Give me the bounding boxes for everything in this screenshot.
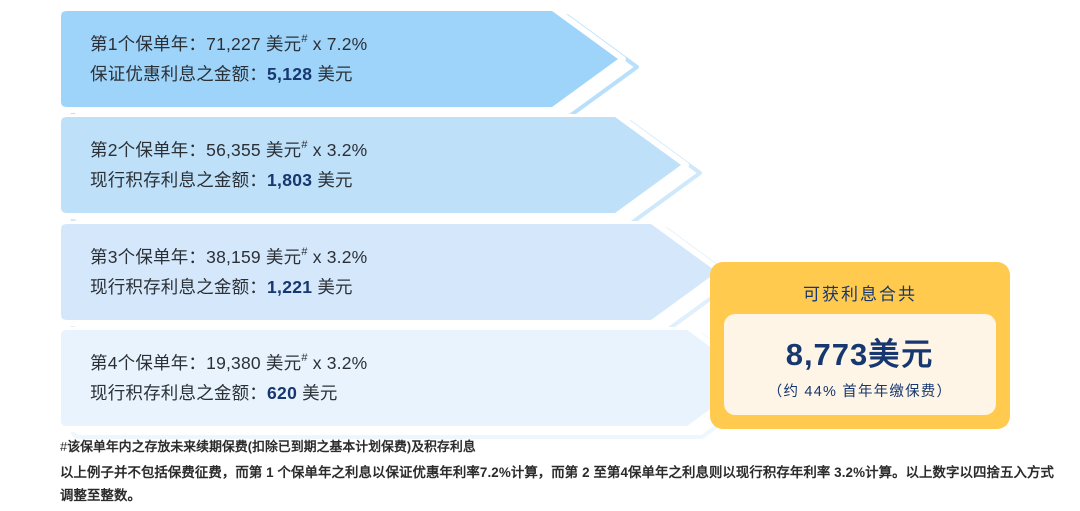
total-interest-card: 可获利息合共 8,773美元 （约 44% 首年年缴保费） <box>710 262 1010 429</box>
interest-amount-2: 1,803 <box>267 170 312 190</box>
policy-year-principal-3: 第3个保单年：38,159 美元 <box>90 247 301 267</box>
total-amount-unit: 美元 <box>868 337 934 372</box>
interest-unit-4: 美元 <box>297 383 337 403</box>
interest-amount-1: 5,128 <box>267 64 312 84</box>
arrow-line1-4: 第4个保单年：19,380 美元# x 3.2% <box>90 348 367 378</box>
footnotes-block: #该保单年内之存放未来续期保费(扣除已到期之基本计划保费)及积存利息 以上例子并… <box>60 437 1060 507</box>
policy-year-arrow-3: 第3个保单年：38,159 美元# x 3.2%现行积存利息之金额：1,221 … <box>58 221 748 337</box>
footnote-hash-note: #该保单年内之存放未来续期保费(扣除已到期之基本计划保费)及积存利息 <box>60 437 1060 457</box>
arrow-line2-4: 现行积存利息之金额：620 美元 <box>90 378 367 408</box>
arrow-text-block-4: 第4个保单年：19,380 美元# x 3.2%现行积存利息之金额：620 美元 <box>90 348 367 408</box>
policy-year-principal-2: 第2个保单年：56,355 美元 <box>90 140 301 160</box>
footnote-disclaimer: 以上例子并不包括保费征费，而第 1 个保单年之利息以保证优惠年利率7.2%计算，… <box>60 461 1060 507</box>
interest-label-2: 现行积存利息之金额： <box>90 170 267 190</box>
footnote-hash-text: 该保单年内之存放未来续期保费(扣除已到期之基本计划保费)及积存利息 <box>67 439 476 454</box>
policy-year-rate-3: x 3.2% <box>308 247 368 267</box>
arrow-line2-1: 保证优惠利息之金额：5,128 美元 <box>90 59 367 89</box>
arrow-line1-3: 第3个保单年：38,159 美元# x 3.2% <box>90 242 367 272</box>
policy-year-rate-4: x 3.2% <box>308 353 368 373</box>
total-percentage-note: （约 44% 首年年缴保费） <box>768 380 952 401</box>
arrow-text-block-2: 第2个保单年：56,355 美元# x 3.2%现行积存利息之金额：1,803 … <box>90 135 367 195</box>
policy-year-rate-2: x 3.2% <box>308 140 368 160</box>
policy-year-arrow-4: 第4个保单年：19,380 美元# x 3.2%现行积存利息之金额：620 美元 <box>58 327 784 443</box>
infographic-canvas: 第1个保单年：71,227 美元# x 7.2%保证优惠利息之金额：5,128 … <box>0 0 1080 511</box>
policy-year-arrow-1: 第1个保单年：71,227 美元# x 7.2%保证优惠利息之金额：5,128 … <box>58 8 649 124</box>
total-card-inner-panel: 8,773美元 （约 44% 首年年缴保费） <box>724 314 996 415</box>
arrow-text-block-3: 第3个保单年：38,159 美元# x 3.2%现行积存利息之金额：1,221 … <box>90 242 367 302</box>
total-amount-value: 8,773 <box>786 337 869 372</box>
arrow-text-block-1: 第1个保单年：71,227 美元# x 7.2%保证优惠利息之金额：5,128 … <box>90 29 367 89</box>
total-amount: 8,773美元 <box>786 329 935 374</box>
policy-year-arrow-2: 第2个保单年：56,355 美元# x 3.2%现行积存利息之金额：1,803 … <box>58 114 712 230</box>
footnote-marker-1: # <box>301 33 307 45</box>
policy-year-principal-4: 第4个保单年：19,380 美元 <box>90 353 301 373</box>
interest-amount-4: 620 <box>267 383 297 403</box>
footnote-marker-3: # <box>301 246 307 258</box>
footnote-marker-4: # <box>301 352 307 364</box>
interest-unit-3: 美元 <box>312 277 352 297</box>
interest-label-1: 保证优惠利息之金额： <box>90 64 267 84</box>
arrow-line1-1: 第1个保单年：71,227 美元# x 7.2% <box>90 29 367 59</box>
interest-unit-1: 美元 <box>312 64 352 84</box>
interest-label-3: 现行积存利息之金额： <box>90 277 267 297</box>
total-card-title: 可获利息合共 <box>803 280 917 305</box>
arrow-line2-2: 现行积存利息之金额：1,803 美元 <box>90 165 367 195</box>
interest-unit-2: 美元 <box>312 170 352 190</box>
footnote-marker-2: # <box>301 139 307 151</box>
interest-label-4: 现行积存利息之金额： <box>90 383 267 403</box>
arrow-line1-2: 第2个保单年：56,355 美元# x 3.2% <box>90 135 367 165</box>
policy-year-rate-1: x 7.2% <box>308 34 368 54</box>
interest-amount-3: 1,221 <box>267 277 312 297</box>
policy-year-principal-1: 第1个保单年：71,227 美元 <box>90 34 301 54</box>
arrow-line2-3: 现行积存利息之金额：1,221 美元 <box>90 272 367 302</box>
